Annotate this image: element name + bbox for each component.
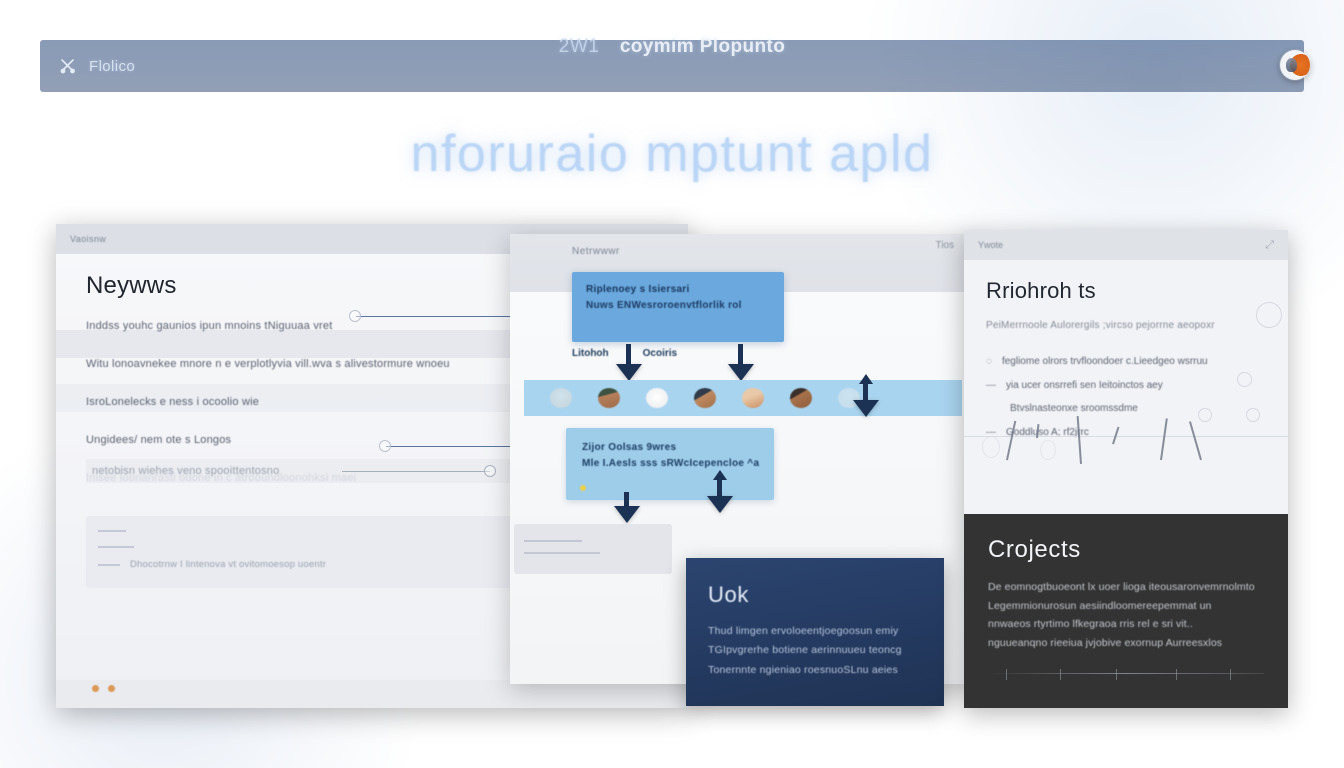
avatar[interactable]	[598, 388, 620, 408]
right-toolbar-label: Ywote	[978, 240, 1003, 250]
arrow-down-icon	[614, 506, 640, 523]
user-avatar-icon[interactable]	[1280, 50, 1310, 80]
blue-card-line-1: Riplenoey s Isiersari	[586, 282, 770, 298]
field-connector-cap	[484, 465, 496, 477]
bullet-icon: ◌	[986, 353, 992, 371]
hero: nforuraio mptunt apld	[0, 124, 1344, 184]
secondary-blue-card[interactable]: Zijor Oolsas 9wres Mle I.Aesls sss sRWcI…	[566, 428, 774, 500]
list-item-label: Btvslnasteonxe sroomssdme	[1010, 400, 1138, 418]
arrow-down-icon	[853, 400, 879, 417]
placeholder-line	[98, 564, 120, 566]
blue-card-meta-left: Litohoh	[572, 348, 609, 359]
projects-line: nnwaeos rtyrtimo lfkegraoa rris rel e sr…	[988, 615, 1264, 634]
left-toolbar-label: Vaoisnw	[70, 234, 106, 244]
left-panel-footer	[56, 680, 688, 708]
blue-card2-line-2: Mle I.Aesls sss sRWcIcepencloe ^a	[582, 456, 758, 472]
page-title: nforuraio mptunt apld	[0, 124, 1344, 184]
decorative-circle	[1198, 408, 1212, 422]
blue-card-line-2: Nuws ENWesroroenvtflorlik rol	[586, 298, 770, 314]
divider-tick	[1176, 669, 1177, 680]
right-panel-toolbar: Ywote ⤢	[964, 230, 1288, 260]
center-placeholder-card	[514, 524, 672, 574]
arrow-down-icon	[616, 364, 642, 381]
divider-tick	[1060, 669, 1061, 680]
brand[interactable]: Flolico	[58, 56, 135, 76]
dash-icon: —	[986, 377, 996, 395]
divider-tick	[1116, 669, 1117, 680]
projects-line: De eomnogtbuoeont lx uoer lioga iteousar…	[988, 578, 1264, 597]
expand-icon[interactable]: ⤢	[1265, 239, 1274, 252]
avatar[interactable]	[646, 388, 668, 408]
navy-info-card[interactable]: Uok Thud limgen ervoloeentjoegoosun emiy…	[686, 558, 944, 706]
list-item-label: yia ucer onsrrefi sen Ieitoinctos aey	[1006, 377, 1163, 395]
pagination-dots[interactable]	[92, 685, 115, 692]
projects-divider	[988, 673, 1264, 674]
arrow-up-icon	[859, 374, 873, 384]
status-dot	[580, 485, 586, 491]
projects-section: Crojects De eomnogtbuoeont lx uoer lioga…	[964, 514, 1288, 708]
navy-card-line: Tonernnte ngieniao roesnuoSLnu aeies	[708, 661, 922, 680]
navy-card-line: TGIpvgrerhe botiene aerinnuueu teoncg	[708, 641, 922, 660]
divider-tick	[1230, 669, 1231, 680]
field-connector	[342, 471, 490, 472]
top-bar: Flolico	[40, 40, 1304, 92]
connector-cap-top	[349, 310, 361, 322]
list-item-label: fegliome olrors trvfloondoer c.Lieedgeo …	[1002, 353, 1208, 371]
divider-tick	[1006, 669, 1007, 680]
decorative-circle	[1246, 408, 1260, 422]
placeholder-caption: Dhocotrnw I lintenova vt ovitomoesop uoe…	[130, 560, 326, 570]
avatar-row[interactable]	[524, 380, 962, 416]
blue-card2-line-1: Zijor Oolsas 9wres	[582, 440, 758, 456]
avatar[interactable]	[790, 388, 812, 408]
avatar[interactable]	[550, 388, 572, 408]
right-panel-heading: Rriohroh ts	[986, 278, 1266, 304]
list-item[interactable]: — Goddluso A; rf2jrrc	[986, 424, 1266, 442]
decorative-circle	[1237, 372, 1252, 387]
navy-card-line: Thud limgen ervoloeentjoegoosun emiy	[708, 622, 922, 641]
blue-card-meta-right: Ocoiris	[643, 348, 677, 359]
list-item[interactable]: — yia ucer onsrrefi sen Ieitoinctos aey	[986, 377, 1266, 395]
scissors-icon	[58, 56, 78, 76]
pagination-dot[interactable]	[108, 685, 115, 692]
projects-title: Crojects	[988, 536, 1264, 564]
decorative-circle	[1040, 440, 1056, 460]
primary-blue-card[interactable]: Riplenoey s Isiersari Nuws ENWesroroenvt…	[572, 272, 784, 342]
connector-cap-mid	[379, 440, 391, 452]
decorative-circle	[982, 436, 1000, 458]
arrow-up-icon	[713, 470, 727, 480]
projects-line: nguueanqno rieeiua jvjobive exornup Aurr…	[988, 634, 1264, 653]
right-panel: Ywote ⤢ Rriohroh ts PeiMerrnoole Aulorer…	[964, 230, 1288, 708]
blue-card-meta: Litohoh Ocoiris	[572, 348, 784, 359]
placeholder-card	[86, 516, 528, 588]
arrow-down-icon	[728, 364, 754, 381]
search-input-value: netobisn wiehes veno spooittentosno	[92, 465, 279, 477]
panels-stage: Vaoisnw Neywws Inddss youhc gaunios ipun…	[56, 224, 1288, 708]
brand-name: Flolico	[89, 58, 135, 75]
placeholder-line	[524, 552, 600, 554]
list-item[interactable]: ◌ fegliome olrors trvfloondoer c.Lieedge…	[986, 353, 1266, 371]
right-panel-subtitle: PeiMerrnoole Aulorergils ;vircso pejorrn…	[986, 320, 1266, 331]
avatar[interactable]	[694, 388, 716, 408]
projects-line: Legemmionurosun aesiindloomereepemmat un	[988, 597, 1264, 616]
pagination-dot[interactable]	[92, 685, 99, 692]
right-panel-body: Rriohroh ts PeiMerrnoole Aulorergils ;vi…	[964, 260, 1288, 514]
center-panel-label: Netrwwwr	[572, 246, 620, 257]
placeholder-line	[98, 546, 134, 548]
center-panel-label-right: Tios	[935, 240, 954, 251]
decorative-circle	[1256, 302, 1282, 328]
placeholder-line	[524, 540, 582, 542]
arrow-down-icon	[707, 496, 733, 513]
avatar[interactable]	[742, 388, 764, 408]
navy-card-title: Uok	[708, 582, 922, 608]
list-item[interactable]: Btvslnasteonxe sroomssdme	[986, 400, 1266, 418]
placeholder-line	[98, 530, 126, 532]
